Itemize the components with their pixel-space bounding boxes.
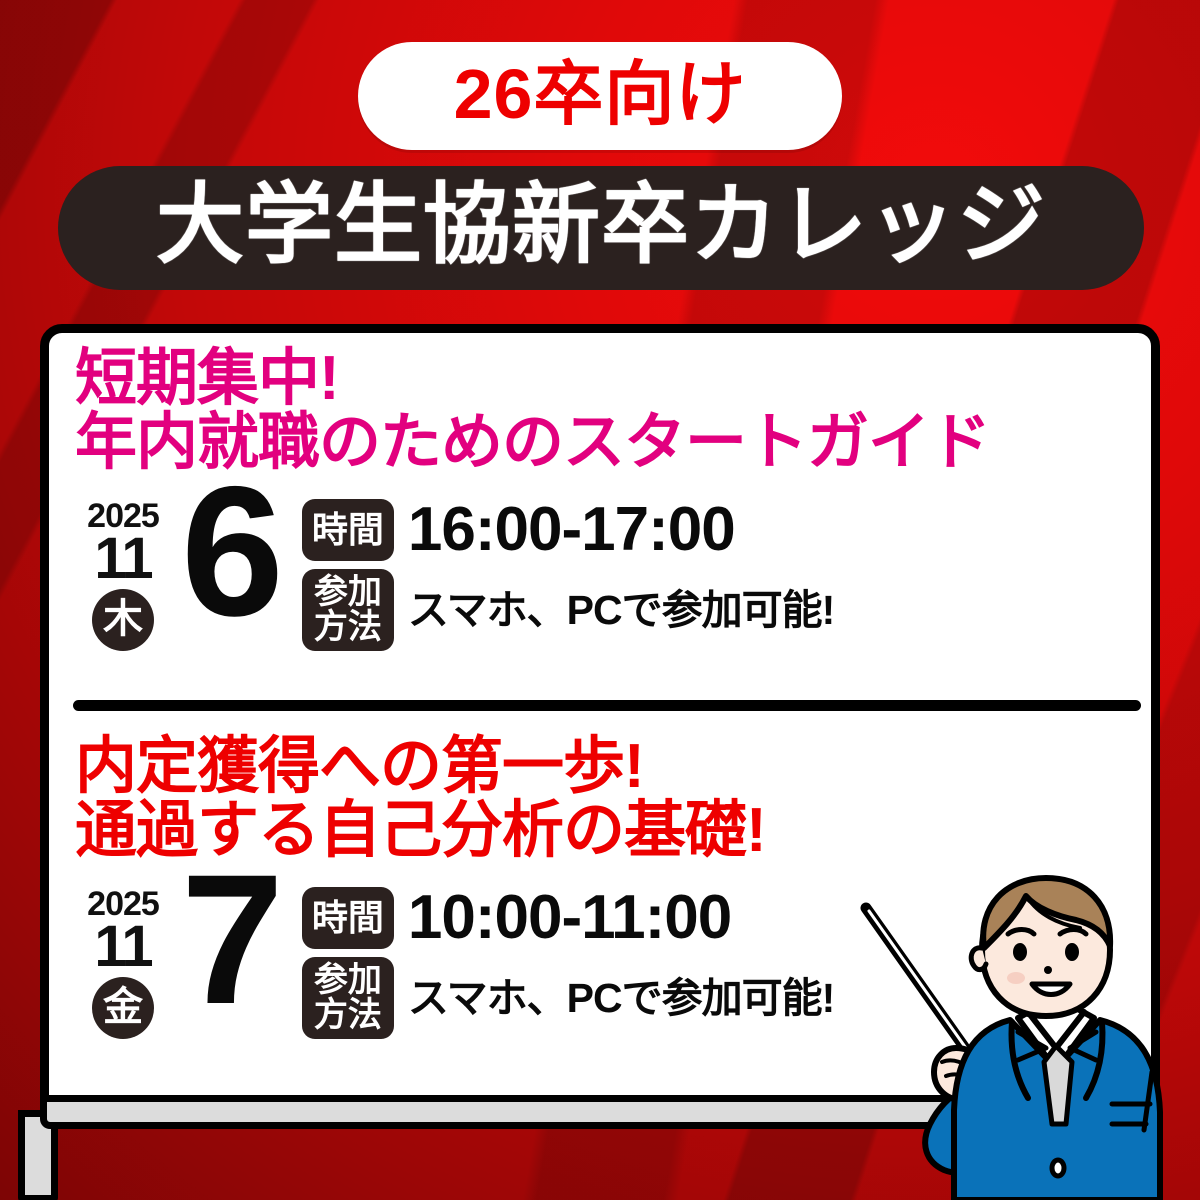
session-1-method-tag: 参加 方法 bbox=[302, 569, 394, 651]
session-2-time-row: 時間 10:00-11:00 bbox=[302, 887, 834, 949]
session-1-time-tag: 時間 bbox=[302, 499, 394, 561]
session-1-date-column: 2025 11 木 bbox=[69, 493, 177, 651]
session-2-time-tag: 時間 bbox=[302, 887, 394, 949]
session-1-method-row: 参加 方法 スマホ、PCで参加可能! bbox=[302, 569, 834, 651]
session-2-title-line2: 通過する自己分析の基礎! bbox=[75, 799, 766, 863]
session-1-time-tag-label: 時間 bbox=[312, 512, 384, 548]
page-title: 大学生協新卒カレッジ bbox=[156, 181, 1046, 269]
session-2-details: 2025 11 金 7 時間 10:00-11:00 参加 方法 bbox=[69, 881, 834, 1039]
session-2-method-value: スマホ、PCで参加可能! bbox=[408, 978, 834, 1019]
session-divider bbox=[73, 700, 1141, 711]
session-1-method-value: スマホ、PCで参加可能! bbox=[408, 590, 834, 631]
session-1-weekday: 木 bbox=[103, 599, 143, 639]
session-1-info: 時間 16:00-17:00 参加 方法 スマホ、PCで参加可能! bbox=[302, 493, 834, 651]
session-2-method-tag: 参加 方法 bbox=[302, 957, 394, 1039]
session-1: 短期集中! 年内就職のためのスタートガイド 2025 11 木 6 時間 16:… bbox=[49, 333, 1169, 703]
session-2-title: 内定獲得への第一歩! 通過する自己分析の基礎! bbox=[75, 735, 766, 863]
session-2-weekday: 金 bbox=[103, 987, 143, 1027]
session-1-month: 11 bbox=[94, 531, 151, 586]
session-2-weekday-circle: 金 bbox=[92, 977, 154, 1039]
page-title-bar: 大学生協新卒カレッジ bbox=[58, 166, 1144, 290]
session-1-method-tag-line1: 参加 bbox=[314, 575, 382, 610]
session-2-time-tag-label: 時間 bbox=[312, 900, 384, 936]
session-1-time-value: 16:00-17:00 bbox=[408, 499, 735, 561]
session-1-details: 2025 11 木 6 時間 16:00-17:00 参加 方法 bbox=[69, 493, 834, 651]
session-2-month: 11 bbox=[94, 919, 151, 974]
session-1-weekday-circle: 木 bbox=[92, 589, 154, 651]
session-1-title-line1: 短期集中! bbox=[75, 347, 990, 411]
session-1-method-tag-line2: 方法 bbox=[314, 610, 382, 645]
session-2-info: 時間 10:00-11:00 参加 方法 スマホ、PCで参加可能! bbox=[302, 881, 834, 1039]
session-2-method-tag-line2: 方法 bbox=[314, 998, 382, 1033]
session-2-date-column: 2025 11 金 bbox=[69, 881, 177, 1039]
session-1-day: 6 bbox=[181, 477, 276, 629]
session-2-method-tag-line1: 参加 bbox=[314, 963, 382, 998]
session-2-method-row: 参加 方法 スマホ、PCで参加可能! bbox=[302, 957, 834, 1039]
presenter-illustration bbox=[860, 862, 1200, 1200]
session-2-title-line1: 内定獲得への第一歩! bbox=[75, 735, 766, 799]
audience-badge-label: 26卒向け bbox=[454, 59, 747, 129]
audience-badge: 26卒向け bbox=[358, 42, 842, 150]
session-2-time-value: 10:00-11:00 bbox=[408, 887, 731, 949]
session-2-day: 7 bbox=[181, 865, 276, 1017]
session-1-time-row: 時間 16:00-17:00 bbox=[302, 499, 834, 561]
